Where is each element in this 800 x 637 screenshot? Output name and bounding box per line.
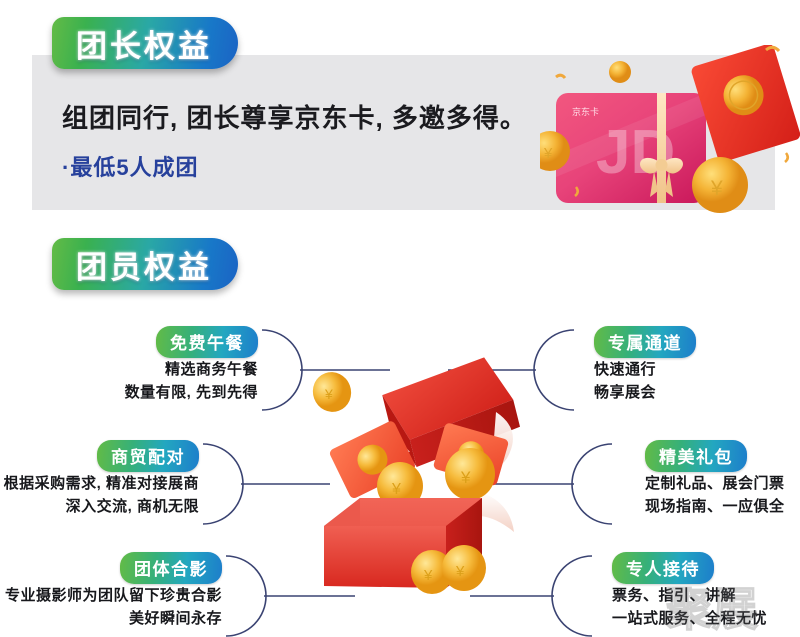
benefit-item-group-photo: 团体合影 专业摄影师为团队留下珍贵合影 美好瞬间永存 — [0, 552, 222, 631]
benefit-item-personal-reception: 专人接待 票务、指引、讲解 一站式服务、全程无忧 — [612, 552, 800, 631]
benefit-title-pill: 精美礼包 — [645, 440, 747, 472]
benefit-desc-line: 票务、指引、讲解 — [612, 584, 800, 607]
benefit-desc-line: 定制礼品、展会门票 — [645, 472, 800, 495]
benefit-title-pill: 专属通道 — [594, 326, 696, 358]
benefit-desc-line: 精选商务午餐 — [0, 358, 258, 381]
benefit-desc-line: 数量有限, 先到先得 — [0, 381, 258, 404]
benefit-item-gift-package: 精美礼包 定制礼品、展会门票 现场指南、一应俱全 — [645, 440, 800, 519]
benefit-desc-line: 现场指南、一应俱全 — [645, 495, 800, 518]
svg-text:¥: ¥ — [391, 481, 401, 498]
benefit-desc-line: 快速通行 — [594, 358, 800, 381]
svg-text:¥: ¥ — [324, 386, 333, 402]
benefit-title-pill: 商贸配对 — [97, 440, 199, 472]
benefit-item-free-lunch: 免费午餐 精选商务午餐 数量有限, 先到先得 — [0, 326, 258, 405]
benefit-desc-line: 一站式服务、全程无忧 — [612, 607, 800, 630]
benefit-item-exclusive-channel: 专属通道 快速通行 畅享展会 — [594, 326, 800, 405]
benefit-desc-line: 根据采购需求, 精准对接展商 — [0, 472, 199, 495]
svg-text:¥: ¥ — [460, 468, 471, 487]
svg-text:¥: ¥ — [455, 563, 465, 580]
gift-box-artwork: ¥ ¥ ¥ ¥ ¥ — [300, 350, 550, 605]
benefit-title-pill: 免费午餐 — [156, 326, 258, 358]
benefit-title-pill: 团体合影 — [120, 552, 222, 584]
benefit-desc-line: 畅享展会 — [594, 381, 800, 404]
benefit-desc-line: 深入交流, 商机无限 — [0, 495, 199, 518]
benefit-item-business-matching: 商贸配对 根据采购需求, 精准对接展商 深入交流, 商机无限 — [0, 440, 199, 519]
benefit-desc-line: 专业摄影师为团队留下珍贵合影 — [0, 584, 222, 607]
benefit-desc-line: 美好瞬间永存 — [0, 607, 222, 630]
svg-text:¥: ¥ — [423, 567, 433, 584]
benefit-title-pill: 专人接待 — [612, 552, 714, 584]
